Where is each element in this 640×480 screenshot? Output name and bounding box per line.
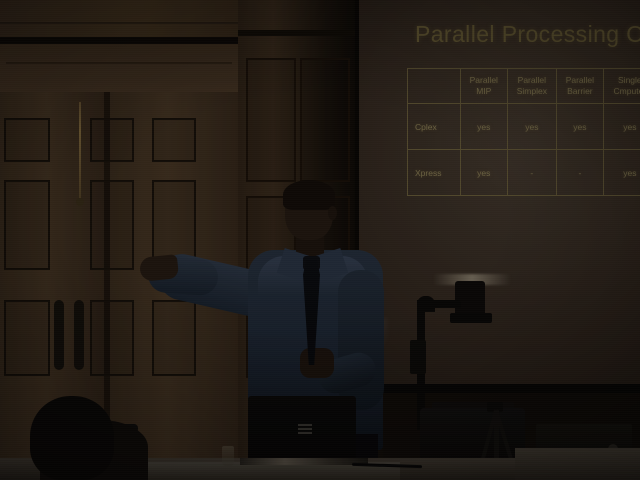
wall-panel: [300, 58, 350, 182]
door-panel: [4, 118, 50, 162]
audience-member-head: [30, 396, 114, 480]
presenter-hair: [283, 180, 335, 210]
door-panel: [4, 180, 50, 270]
table-col-header-line1: Parallel: [557, 75, 603, 86]
table-col-header-line1: Parallel: [461, 75, 507, 86]
table-row-label: Xpress: [408, 150, 461, 196]
overhead-projector-head: [455, 281, 485, 316]
table-cell: yes: [603, 150, 640, 196]
door-transom: [0, 44, 238, 94]
door-panel: [90, 300, 134, 376]
slide-title: Parallel Processing Op: [415, 21, 640, 48]
table-col-header-line1: Parallel: [508, 75, 557, 86]
door-handle-left[interactable]: [54, 300, 64, 370]
door-transom-line: [6, 62, 232, 64]
table-col-header-line2: Cmputer: [604, 86, 640, 97]
slide-comparison-table: Parallel MIP Parallel Simplex Parallel B…: [407, 68, 640, 196]
photo-scene: Parallel Processing Op Parallel MIP Para…: [0, 0, 640, 480]
wall-panel: [246, 58, 296, 182]
presenter-hand-right: [300, 348, 334, 378]
table-cell: yes: [603, 104, 640, 150]
door-panel: [152, 118, 196, 162]
laptop-logo: [298, 424, 312, 434]
door-hanging-rod: [79, 102, 81, 200]
table-cell: -: [557, 150, 604, 196]
table-cell: yes: [557, 104, 604, 150]
projection-screen: Parallel Processing Op Parallel MIP Para…: [355, 0, 640, 392]
table-cell: -: [507, 150, 557, 196]
table-cell: yes: [461, 104, 508, 150]
door-panel: [90, 118, 134, 162]
overhead-projector-head-base: [450, 313, 492, 323]
presenter-hand-left: [139, 254, 179, 282]
stage-rail: [356, 384, 640, 393]
drinking-glass: [222, 446, 234, 466]
table-corner-cell: [408, 69, 461, 104]
table-col-header: Parallel Simplex: [507, 69, 557, 104]
door-handle-right[interactable]: [74, 300, 84, 370]
overhead-projector-collar: [410, 340, 426, 374]
laptop-base: [240, 458, 368, 465]
door-panel: [90, 180, 134, 270]
door-rod-knob: [76, 198, 84, 206]
table-col-header-line2: Simplex: [508, 86, 557, 97]
table-col-header-line1: Single: [604, 75, 640, 86]
table-col-header-line2: MIP: [461, 86, 507, 97]
table-row-label: Cplex: [408, 104, 461, 150]
table-col-header-line2: Barrier: [557, 86, 603, 97]
table-col-header: Single Cmputer: [603, 69, 640, 104]
table-front-panel-right: [515, 448, 640, 480]
table-cell: yes: [461, 150, 508, 196]
screen-glow: [359, 0, 640, 392]
table-col-header: Parallel Barrier: [557, 69, 604, 104]
table-row: Xpress yes - - yes: [408, 150, 640, 196]
table-row: Cplex yes yes yes yes: [408, 104, 640, 150]
door-panel: [4, 300, 50, 376]
wall-trim-right: [238, 30, 356, 36]
table-cell: yes: [507, 104, 557, 150]
presenter-ear: [328, 206, 337, 220]
table-col-header: Parallel MIP: [461, 69, 508, 104]
table-header-row: Parallel MIP Parallel Simplex Parallel B…: [408, 69, 640, 104]
